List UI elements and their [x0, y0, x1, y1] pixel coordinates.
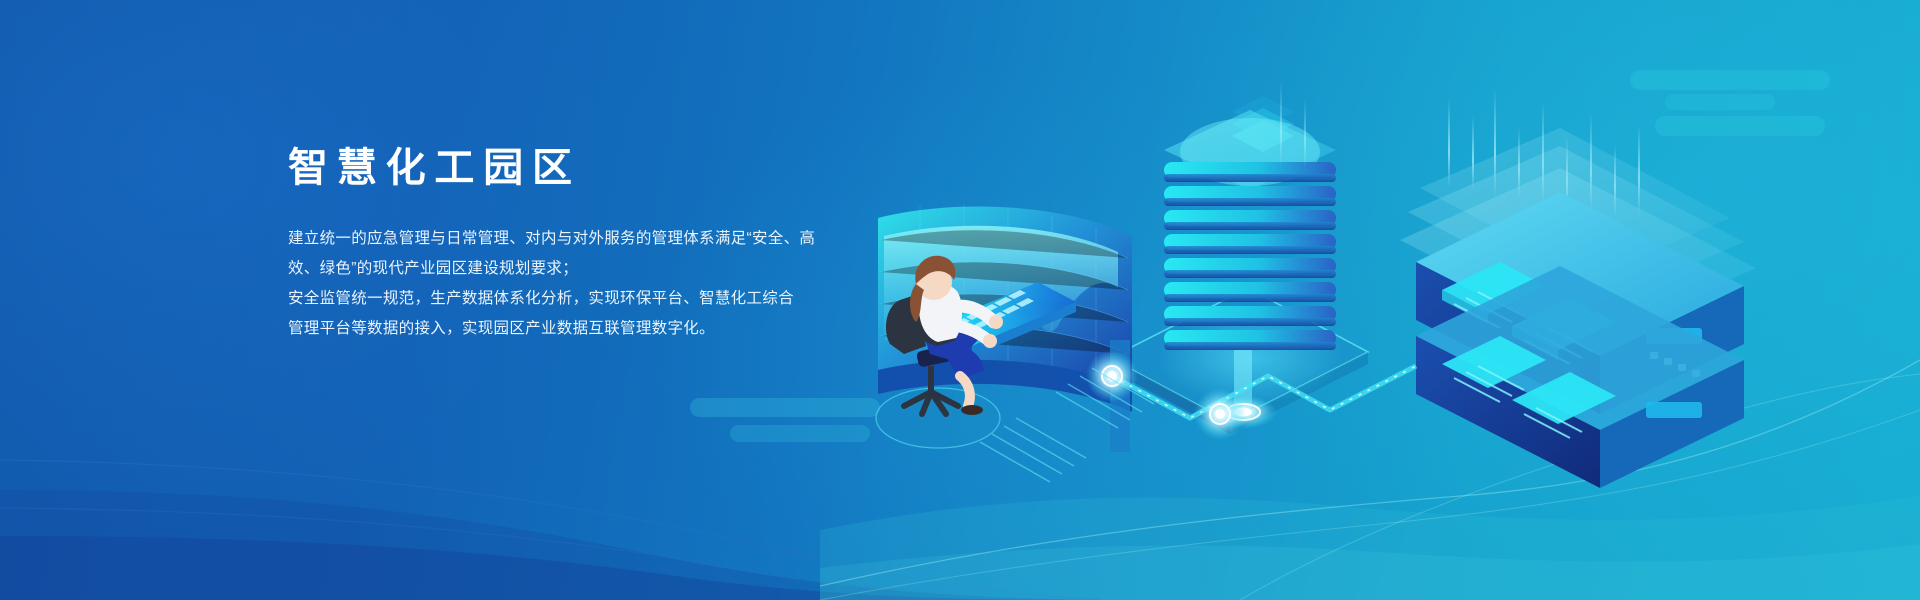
description-line-2: 效、绿色”的现代产业园区建设规划要求；: [288, 254, 888, 284]
cloud-bar-icon: [690, 398, 880, 417]
hero-banner: 智慧化工园区 建立统一的应急管理与日常管理、对内与对外服务的管理体系满足“安全、…: [0, 0, 1920, 600]
tower-slabs: [1164, 110, 1336, 350]
hero-description: 建立统一的应急管理与日常管理、对内与对外服务的管理体系满足“安全、高 效、绿色”…: [288, 224, 888, 344]
smart-park-illustration: [860, 40, 1920, 560]
layered-cylinder-tower: [1158, 110, 1342, 429]
description-line-3: 安全监管统一规范，生产数据体系化分析，实现环保平台、智慧化工综合: [288, 284, 888, 314]
hero-copy: 智慧化工园区 建立统一的应急管理与日常管理、对内与对外服务的管理体系满足“安全、…: [288, 146, 888, 344]
page-title: 智慧化工园区: [288, 146, 888, 190]
cloud-bar-icon: [730, 425, 870, 442]
description-line-4: 管理平台等数据的接入，实现园区产业数据互联管理数字化。: [288, 314, 888, 344]
connection-node: [1194, 388, 1246, 440]
description-line-1: 建立统一的应急管理与日常管理、对内与对外服务的管理体系满足“安全、高: [288, 224, 888, 254]
